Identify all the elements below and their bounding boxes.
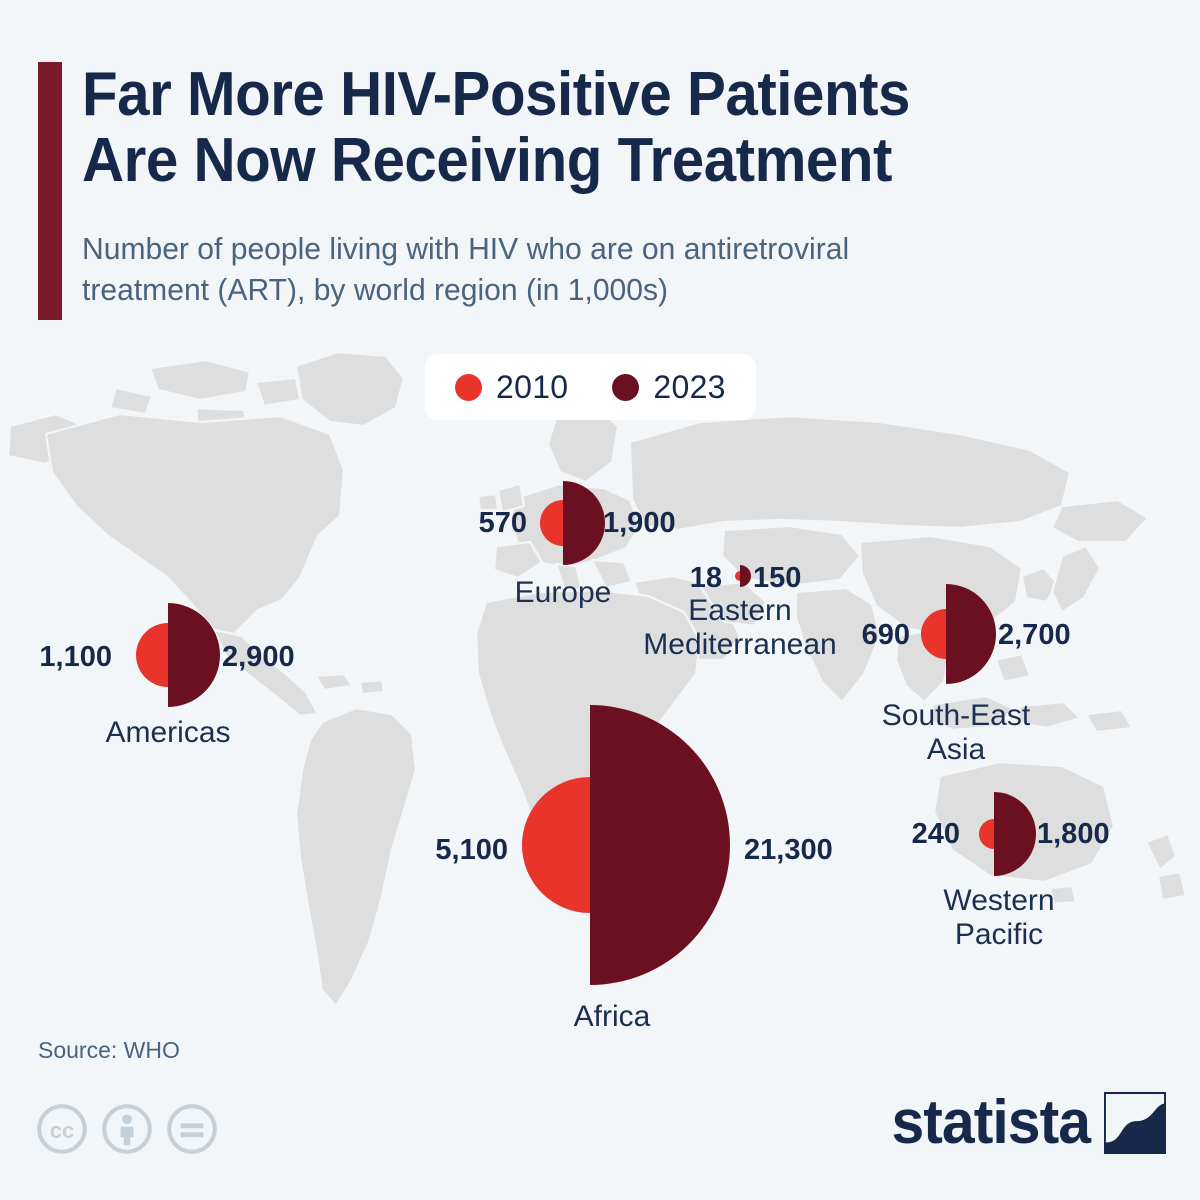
source-note: Source: WHO bbox=[38, 1037, 180, 1064]
legend-item-2010[interactable]: 2010 bbox=[455, 371, 568, 403]
infographic-root: Far More HIV-Positive Patients Are Now R… bbox=[0, 0, 1200, 1200]
legend-label-2010: 2010 bbox=[496, 371, 568, 403]
svg-text:cc: cc bbox=[50, 1118, 74, 1143]
statista-wordmark: statista bbox=[891, 1092, 1090, 1154]
creative-commons-row: cc bbox=[36, 1103, 218, 1155]
statista-logo[interactable]: statista bbox=[881, 1092, 1166, 1154]
world-map bbox=[0, 330, 1200, 1050]
page-subtitle: Number of people living with HIV who are… bbox=[82, 228, 1144, 310]
legend: 2010 2023 bbox=[425, 354, 756, 420]
legend-dot-2010 bbox=[455, 374, 482, 401]
cc-nd-equals-icon[interactable] bbox=[166, 1103, 218, 1155]
statista-swoosh-icon bbox=[1104, 1092, 1166, 1154]
cc-by-person-icon[interactable] bbox=[101, 1103, 153, 1155]
page-title: Far More HIV-Positive Patients Are Now R… bbox=[82, 62, 1107, 193]
accent-bar bbox=[38, 62, 62, 320]
legend-label-2023: 2023 bbox=[653, 371, 725, 403]
legend-dot-2023 bbox=[612, 374, 639, 401]
cc-icon[interactable]: cc bbox=[36, 1103, 88, 1155]
legend-item-2023[interactable]: 2023 bbox=[612, 371, 725, 403]
